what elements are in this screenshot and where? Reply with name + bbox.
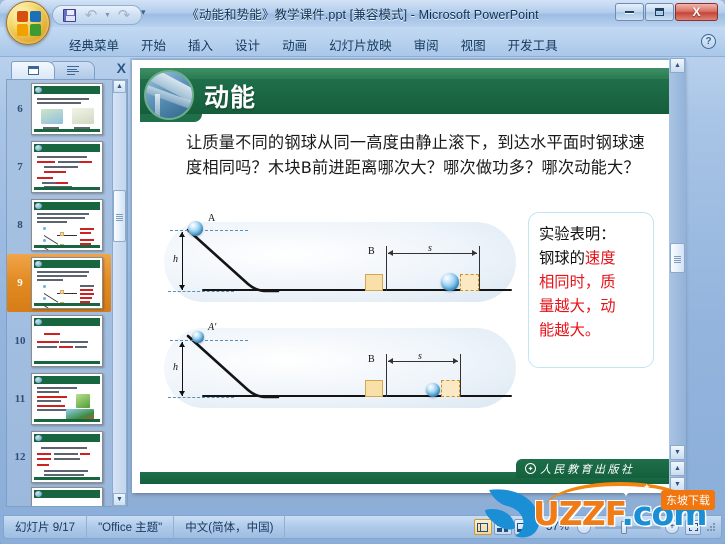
tab-view[interactable]: 视图 <box>450 31 497 58</box>
tab-outline[interactable] <box>51 61 95 79</box>
pane-tabs: X <box>9 59 128 79</box>
block-b-displaced <box>441 380 460 397</box>
thumbnail-image-12[interactable] <box>31 431 103 483</box>
conclusion-line-3: 相同时，质 <box>539 273 616 291</box>
bottom-dashed-line <box>168 291 234 292</box>
physics-figure-1[interactable]: h A B s <box>160 212 520 307</box>
thumbnail-list: 6 7 <box>7 80 111 507</box>
normal-view-icon <box>477 523 488 532</box>
view-sorter-button[interactable] <box>494 519 512 535</box>
quick-access-toolbar: ↶ ▼ ↷ <box>52 5 142 25</box>
end-marker-line <box>479 246 480 291</box>
block-b-label: B <box>368 354 375 365</box>
ribbon-tab-strip: 经典菜单 开始 插入 设计 动画 幻灯片放映 审阅 视图 开发工具 ? <box>0 27 725 57</box>
view-slideshow-button[interactable] <box>514 519 532 535</box>
thumbnail-number: 8 <box>9 219 31 231</box>
publisher-seal-icon: ✦ <box>525 463 536 474</box>
scrollbar-thumb[interactable] <box>670 243 685 273</box>
tab-developer[interactable]: 开发工具 <box>497 31 569 58</box>
slide-canvas[interactable]: 动能 让质量不同的钢球从同一高度由静止滚下，到达水平面时钢球速度相同吗？木块B前… <box>132 60 684 493</box>
tab-slides[interactable] <box>11 61 55 79</box>
tab-home[interactable]: 开始 <box>130 31 177 58</box>
outline-view-icon <box>67 66 79 75</box>
height-arrow <box>182 342 183 396</box>
ribbon-tabs: 经典菜单 开始 插入 设计 动画 幻灯片放映 审阅 视图 开发工具 <box>58 31 569 58</box>
ball-a-prime-rolled <box>426 383 440 397</box>
zoom-knob[interactable] <box>621 521 627 534</box>
conclusion-line-1: 实验表明： <box>539 225 616 243</box>
fit-to-window-button[interactable] <box>685 520 701 535</box>
conclusion-text: 实验表明： 钢球的速度 相同时，质 量越大，动 能越大。 <box>539 222 647 342</box>
slide-thumbnail-pane: X 6 <box>4 58 128 508</box>
ball-a-label: A <box>208 213 215 224</box>
conclusion-line-2-black: 钢球的 <box>539 249 585 267</box>
height-label: h <box>173 254 178 265</box>
distance-label: s <box>428 243 432 254</box>
start-marker-line <box>386 354 387 397</box>
save-icon <box>63 9 76 22</box>
bottom-dashed-line <box>168 397 234 398</box>
next-slide-button[interactable]: ▼ <box>670 477 685 492</box>
undo-button[interactable]: ↶ <box>81 6 101 24</box>
fit-icon <box>689 523 698 531</box>
conclusion-line-2-red: 速度 <box>585 249 616 267</box>
thumbnail-number: 9 <box>9 277 31 289</box>
view-buttons <box>468 519 538 535</box>
thumbnail-row-9[interactable]: 9 <box>7 254 111 312</box>
slide-view-icon <box>28 66 39 75</box>
save-button[interactable] <box>59 6 79 24</box>
zoom-in-button[interactable]: + <box>665 520 679 534</box>
minimize-icon <box>625 11 634 13</box>
thumbnail-number: 10 <box>9 335 31 347</box>
thumbnail-image-7[interactable] <box>31 141 103 193</box>
thumbnail-number: 7 <box>9 161 31 173</box>
status-bar: 幻灯片 9/17 "Office 主题" 中文(简体，中国) 57% − + <box>3 515 722 539</box>
thumbnail-row-next-partial[interactable] <box>7 486 111 507</box>
height-label: h <box>173 362 178 373</box>
thumbnail-row-8[interactable]: 8 <box>7 196 111 254</box>
end-marker-line <box>460 354 461 397</box>
highway-photo-icon <box>144 70 194 120</box>
conclusion-textbox[interactable]: 实验表明： 钢球的速度 相同时，质 量越大，动 能越大。 <box>528 212 654 368</box>
language-indicator[interactable]: 中文(简体，中国) <box>174 515 285 539</box>
tab-review[interactable]: 审阅 <box>403 31 450 58</box>
thumbnail-scroll-area[interactable]: 6 7 <box>6 79 128 507</box>
ball-a-rolled <box>441 273 459 291</box>
publisher-name: 人民教育出版社 <box>540 461 635 477</box>
theme-name[interactable]: "Office 主题" <box>87 515 174 539</box>
tab-animations[interactable]: 动画 <box>271 31 318 58</box>
office-button[interactable] <box>6 1 50 45</box>
tab-slideshow[interactable]: 幻灯片放映 <box>318 31 403 58</box>
thumbnail-row-7[interactable]: 7 <box>7 138 111 196</box>
block-b-label: B <box>368 246 375 257</box>
window-controls: X <box>615 3 718 21</box>
scroll-down-button[interactable]: ▼ <box>670 445 685 460</box>
top-dashed-line <box>170 230 248 231</box>
slide-title[interactable]: 动能 <box>204 81 256 114</box>
block-b-displaced <box>460 274 479 291</box>
distance-arrow <box>388 253 477 254</box>
zoom-track[interactable] <box>595 526 661 529</box>
close-pane-button[interactable]: X <box>117 60 126 76</box>
conclusion-line-4: 量越大，动 <box>539 297 616 315</box>
tab-design[interactable]: 设计 <box>224 31 271 58</box>
tab-insert[interactable]: 插入 <box>177 31 224 58</box>
ball-a-prime <box>192 331 204 343</box>
physics-figure-2[interactable]: h A' B s <box>160 318 520 413</box>
slide-footer-band: ✦ 人民教育出版社 <box>140 472 676 484</box>
block-b <box>365 380 383 397</box>
publisher-logo: ✦ 人民教育出版社 <box>516 459 676 478</box>
scroll-up-button[interactable]: ▲ <box>113 80 126 93</box>
thumbnail-image-6[interactable] <box>31 83 103 135</box>
redo-button[interactable]: ↷ <box>114 6 134 24</box>
close-icon: X <box>692 5 700 19</box>
block-b <box>365 274 383 291</box>
thumbnail-row-12[interactable]: 12 <box>7 428 111 486</box>
distance-label: s <box>418 351 422 362</box>
thumbnail-row-11[interactable]: 11 <box>7 370 111 428</box>
chevron-down-icon: ▼ <box>104 12 111 19</box>
zoom-out-button[interactable]: − <box>577 520 591 534</box>
slide-header-band <box>140 68 676 79</box>
help-icon[interactable]: ? <box>701 34 716 49</box>
workspace: X 6 <box>0 57 725 510</box>
ball-a <box>188 221 203 236</box>
maximize-icon <box>655 8 664 16</box>
thumbnail-image-8[interactable] <box>31 199 103 251</box>
slideshow-icon <box>517 523 528 532</box>
undo-icon: ↶ <box>85 8 98 23</box>
top-dashed-line <box>170 340 248 341</box>
thumbnail-image-10[interactable] <box>31 315 103 367</box>
slide-counter[interactable]: 幻灯片 9/17 <box>4 515 87 539</box>
scroll-up-button[interactable]: ▲ <box>670 58 685 73</box>
powerpoint-window: 《动能和势能》教学课件.ppt [兼容模式] - Microsoft Power… <box>0 0 725 544</box>
tab-classic-menu[interactable]: 经典菜单 <box>58 31 130 58</box>
slide-scrollbar[interactable]: ▲ ▼ ▲ ▼ <box>669 58 686 508</box>
incline-slope <box>160 212 520 307</box>
thumbnail-row-10[interactable]: 10 <box>7 312 111 370</box>
zoom-slider[interactable]: − + <box>577 520 685 534</box>
view-normal-button[interactable] <box>474 519 492 535</box>
resize-grip[interactable] <box>704 520 718 534</box>
redo-icon: ↷ <box>118 8 131 23</box>
scroll-down-button[interactable]: ▼ <box>113 493 126 506</box>
thumbnail-image-9[interactable] <box>31 257 103 309</box>
slide-editing-area: 动能 让质量不同的钢球从同一高度由静止滚下，到达水平面时钢球速度相同吗？木块B前… <box>130 58 686 508</box>
thumbnail-scrollbar[interactable]: ▲ ▼ <box>112 79 127 507</box>
thumbnail-number: 6 <box>9 103 31 115</box>
conclusion-line-5: 能越大。 <box>539 321 600 339</box>
previous-slide-button[interactable]: ▲ <box>670 461 685 476</box>
slide-sorter-icon <box>497 523 508 532</box>
thumbnail-number: 11 <box>9 393 31 405</box>
thumbnail-image-11[interactable] <box>31 373 103 425</box>
thumbnail-row-6[interactable]: 6 <box>7 80 111 138</box>
office-logo-icon <box>17 11 41 36</box>
customize-qat-button[interactable]: ▾ <box>141 7 146 18</box>
maximize-button[interactable] <box>645 3 674 21</box>
distance-arrow <box>388 361 458 362</box>
start-marker-line <box>386 246 387 291</box>
thumbnail-number: 12 <box>9 451 31 463</box>
height-arrow <box>182 232 183 290</box>
zoom-percent[interactable]: 57% <box>538 521 577 533</box>
thumbnail-image-next[interactable] <box>31 487 103 507</box>
scrollbar-thumb[interactable] <box>113 190 126 242</box>
minimize-button[interactable] <box>615 3 644 21</box>
close-button[interactable]: X <box>675 3 718 21</box>
slide-body-text[interactable]: 让质量不同的钢球从同一高度由静止滚下，到达水平面时钢球速度相同吗？木块B前进距离… <box>186 130 661 180</box>
undo-dropdown-button[interactable]: ▼ <box>103 6 112 24</box>
ball-a-prime-label: A' <box>208 322 216 333</box>
